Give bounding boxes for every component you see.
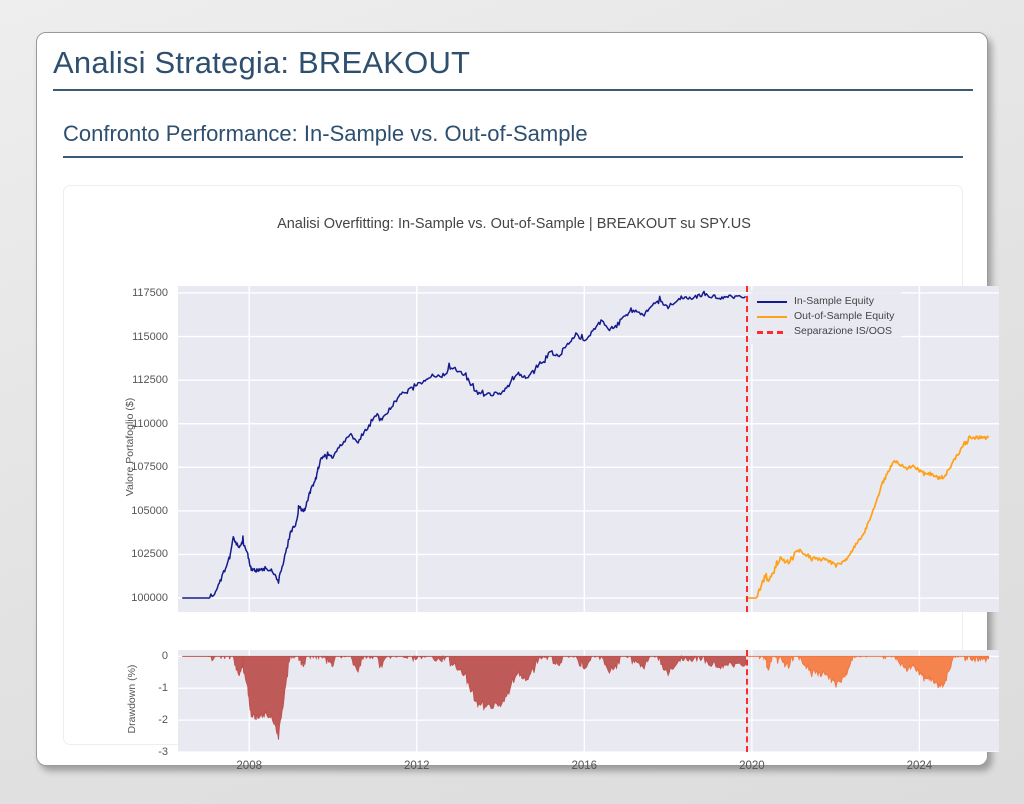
- out-of-sample-drawdown-area: [746, 656, 989, 688]
- legend-label-out-of-sample: Out-of-Sample Equity: [794, 309, 894, 324]
- section-title: Confronto Performance: In-Sample vs. Out…: [63, 121, 963, 158]
- legend-label-in-sample: In-Sample Equity: [794, 294, 874, 309]
- legend-line-icon-blue: [757, 296, 787, 307]
- page-background: Analisi Strategia: BREAKOUT Confronto Pe…: [0, 0, 1024, 804]
- x-tick-label: 2008: [236, 760, 262, 772]
- y-tick-label: 115000: [64, 331, 168, 343]
- y-axis-title-drawdown: Drawdown (%): [126, 639, 138, 759]
- y-tick-label: 107500: [64, 461, 168, 473]
- separation-line-is-oos: [746, 650, 748, 752]
- x-tick-label: 2024: [907, 760, 933, 772]
- y-axis-title-main: Valore Portafoglio ($): [124, 387, 136, 507]
- drawdown-y-tick-label: 0: [64, 650, 168, 662]
- legend-item-out-of-sample: Out-of-Sample Equity: [757, 309, 894, 324]
- y-tick-label: 102500: [64, 548, 168, 560]
- y-tick-label: 112500: [64, 374, 168, 386]
- chart-container: Analisi Overfitting: In-Sample vs. Out-o…: [63, 185, 963, 745]
- chart-legend: In-Sample Equity Out-of-Sample Equity Se…: [751, 290, 901, 344]
- separation-line-is-oos: [746, 286, 748, 612]
- legend-line-icon-orange: [757, 311, 787, 322]
- in-sample-equity-line: [182, 291, 745, 598]
- chart-title: Analisi Overfitting: In-Sample vs. Out-o…: [64, 216, 964, 232]
- y-tick-label: 105000: [64, 505, 168, 517]
- y-tick-label: 100000: [64, 592, 168, 604]
- y-tick-label: 110000: [64, 418, 168, 430]
- in-sample-drawdown-area: [182, 656, 745, 739]
- legend-item-in-sample: In-Sample Equity: [757, 294, 894, 309]
- legend-label-separation: Separazione IS/OOS: [794, 324, 892, 339]
- page-title: Analisi Strategia: BREAKOUT: [53, 45, 973, 91]
- x-tick-label: 2020: [739, 760, 765, 772]
- x-tick-label: 2016: [572, 760, 598, 772]
- drawdown-y-tick-label: -3: [64, 746, 168, 758]
- report-card: Analisi Strategia: BREAKOUT Confronto Pe…: [36, 32, 988, 766]
- out-of-sample-equity-line: [746, 436, 989, 598]
- drawdown-plot-area: [178, 650, 999, 752]
- x-tick-label: 2012: [404, 760, 430, 772]
- legend-line-icon-dashed-red: [757, 326, 787, 337]
- drawdown-areas: [178, 650, 999, 752]
- drawdown-y-tick-label: -1: [64, 682, 168, 694]
- y-tick-label: 117500: [64, 287, 168, 299]
- legend-item-separation: Separazione IS/OOS: [757, 324, 894, 339]
- drawdown-y-tick-label: -2: [64, 714, 168, 726]
